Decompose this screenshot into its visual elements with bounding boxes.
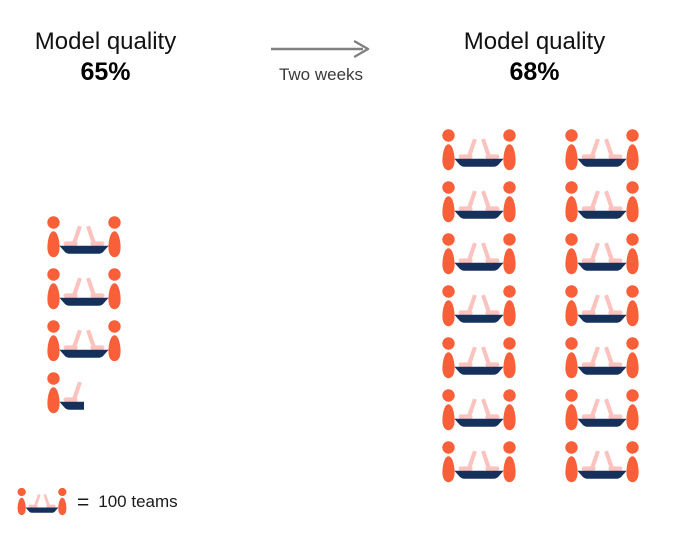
- before-pictogram-group: [45, 215, 123, 416]
- transition-label: Two weeks: [258, 65, 384, 85]
- meeting-table-pictogram-icon: [45, 267, 123, 312]
- transition-group: Two weeks: [258, 40, 384, 85]
- pictogram-unit: [563, 180, 641, 225]
- arrow-right-icon: [269, 40, 373, 58]
- meeting-table-pictogram-icon: [563, 388, 641, 433]
- meeting-table-pictogram-icon: [440, 440, 518, 485]
- after-pictogram-group: [440, 128, 641, 485]
- meeting-table-pictogram-icon: [440, 180, 518, 225]
- meeting-table-pictogram-icon: [563, 284, 641, 329]
- pictogram-unit: [563, 128, 641, 173]
- meeting-table-pictogram-icon: [45, 371, 84, 416]
- pictogram-unit: [45, 267, 123, 312]
- pictogram-unit: [563, 440, 641, 485]
- meeting-table-pictogram-icon: [563, 336, 641, 381]
- before-title: Model quality: [8, 28, 203, 56]
- pictogram-unit: [45, 319, 123, 364]
- after-panel-header: Model quality 68%: [432, 28, 637, 88]
- meeting-table-pictogram-icon: [440, 284, 518, 329]
- pictogram-unit: [440, 232, 518, 277]
- before-value: 65%: [8, 58, 203, 88]
- meeting-table-pictogram-icon: [563, 440, 641, 485]
- meeting-table-pictogram-icon: [563, 232, 641, 277]
- pictogram-unit: [440, 440, 518, 485]
- pictogram-unit-partial: [45, 371, 84, 416]
- meeting-table-pictogram-icon: [563, 180, 641, 225]
- meeting-table-pictogram-icon: [440, 232, 518, 277]
- meeting-table-pictogram-icon: [563, 128, 641, 173]
- meeting-table-pictogram-icon: [440, 128, 518, 173]
- meeting-table-pictogram-icon: [440, 388, 518, 433]
- legend-pictogram-icon: [16, 487, 68, 517]
- pictogram-unit: [45, 215, 123, 260]
- before-panel-header: Model quality 65%: [8, 28, 203, 88]
- meeting-table-pictogram-icon: [45, 215, 123, 260]
- pictogram-unit: [440, 284, 518, 329]
- meeting-table-pictogram-icon: [45, 319, 123, 364]
- legend: = 100 teams: [16, 487, 178, 517]
- pictogram-unit: [440, 388, 518, 433]
- pictogram-unit: [440, 180, 518, 225]
- pictogram-unit: [440, 128, 518, 173]
- meeting-table-pictogram-icon: [440, 336, 518, 381]
- pictogram-unit: [563, 336, 641, 381]
- meeting-table-pictogram-icon: [16, 487, 68, 517]
- pictogram-unit: [563, 388, 641, 433]
- pictogram-unit: [440, 336, 518, 381]
- pictogram-unit: [563, 232, 641, 277]
- legend-equals-sign: =: [77, 492, 89, 513]
- pictogram-unit: [563, 284, 641, 329]
- legend-label: 100 teams: [98, 492, 177, 512]
- after-title: Model quality: [432, 28, 637, 56]
- after-value: 68%: [432, 58, 637, 88]
